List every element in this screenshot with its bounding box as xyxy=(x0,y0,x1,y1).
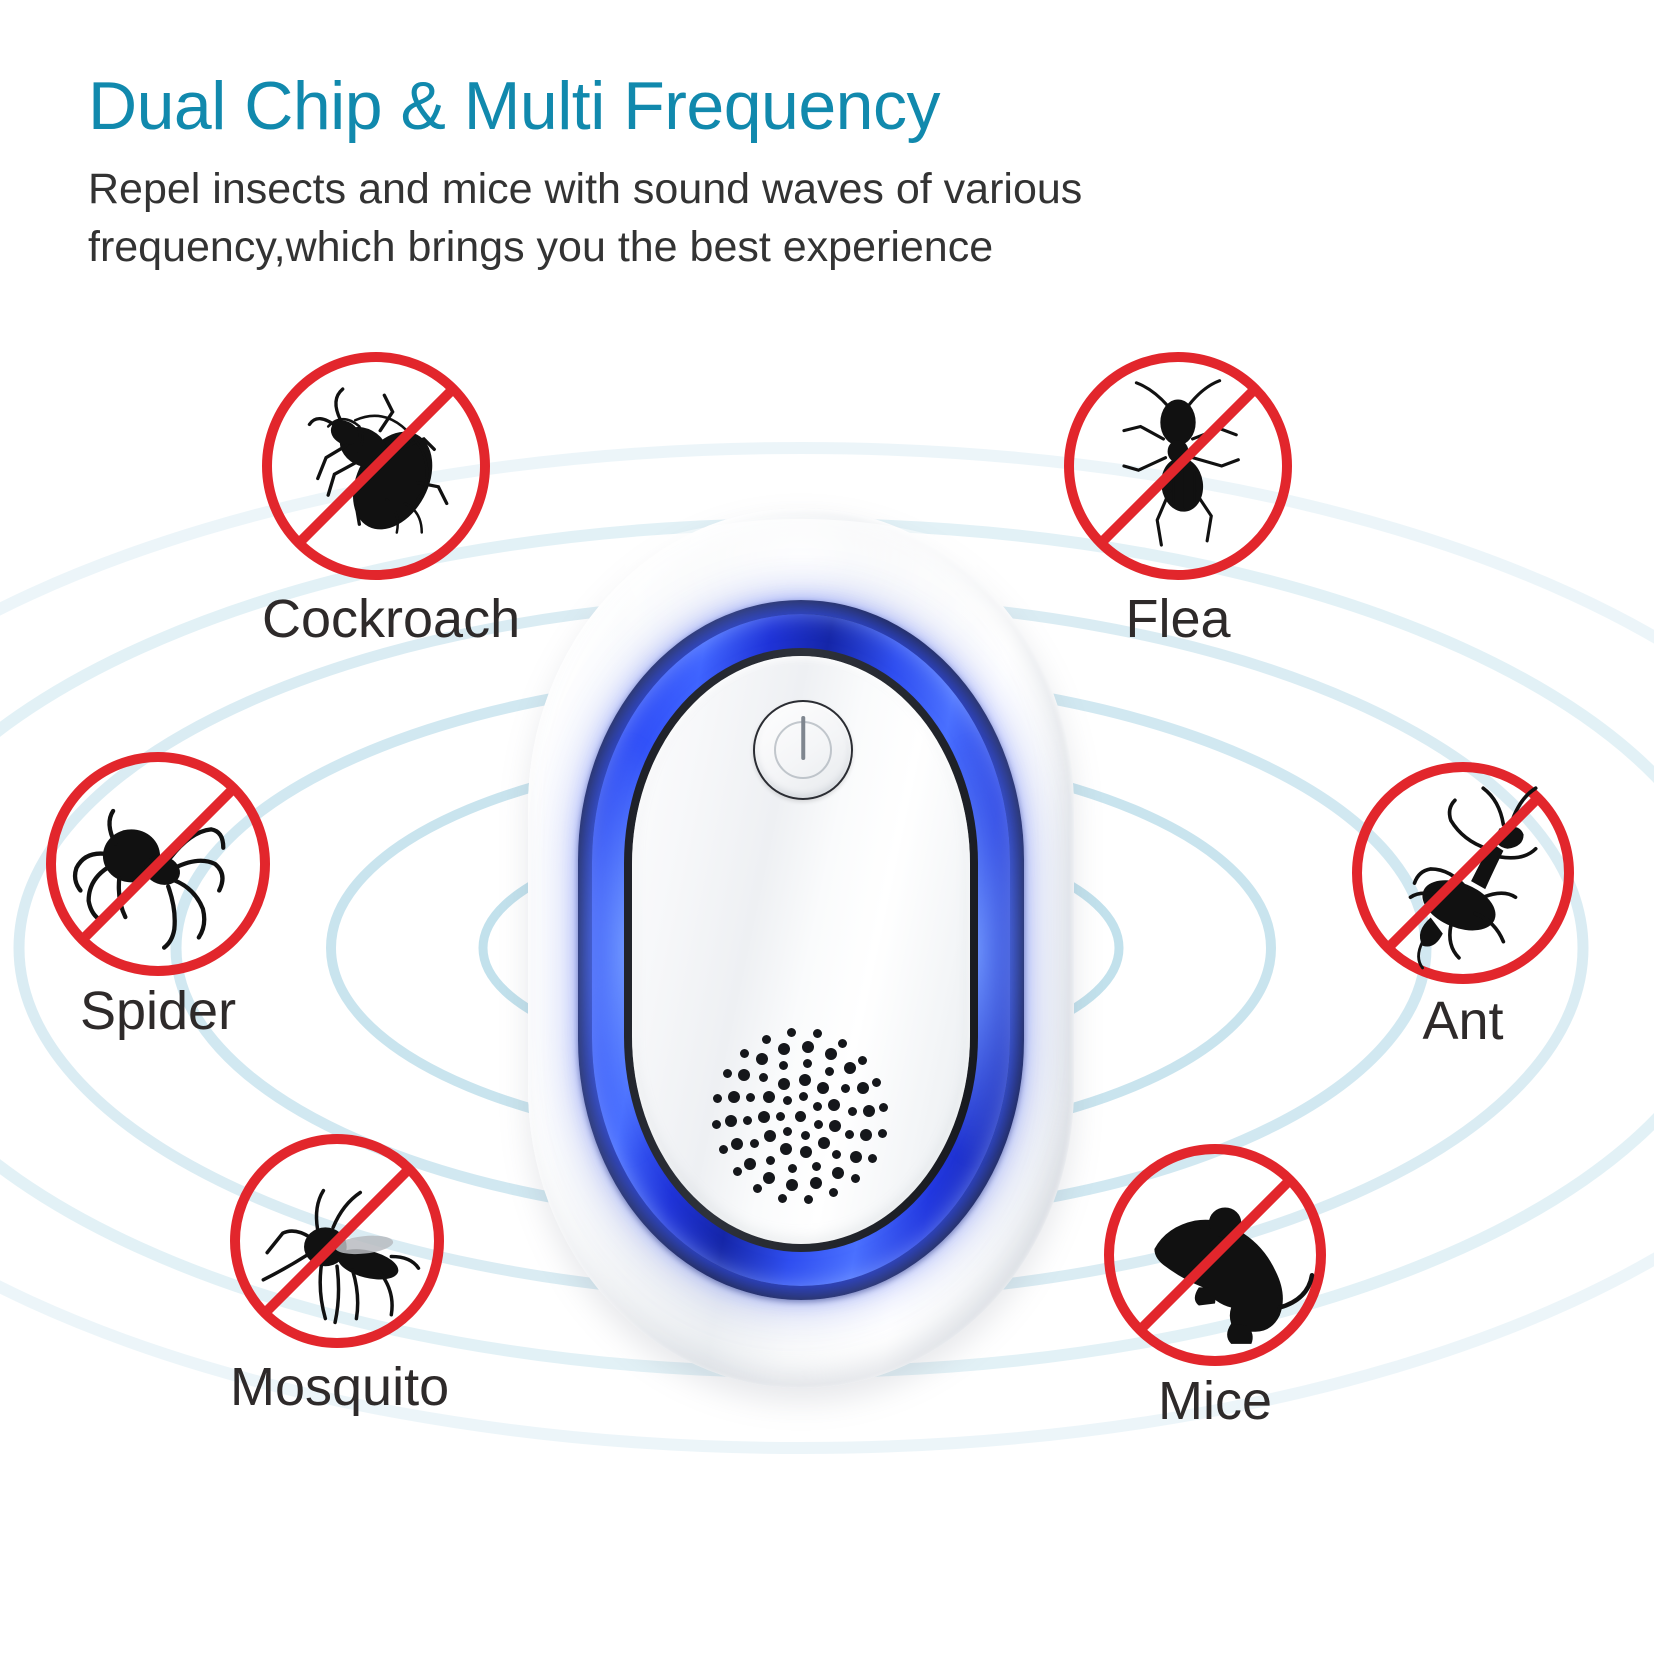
grille-dot xyxy=(778,1194,787,1203)
prohibition-badge xyxy=(1104,1144,1326,1366)
grille-dot xyxy=(788,1164,797,1173)
grille-dot xyxy=(863,1105,875,1117)
grille-dot xyxy=(812,1162,821,1171)
pest-item-ant: Ant xyxy=(1352,762,1574,984)
grille-dot xyxy=(858,1056,867,1065)
device-illustration xyxy=(528,508,1074,1388)
prohibition-badge xyxy=(1064,352,1292,580)
pest-item-spider: Spider xyxy=(46,752,270,976)
grille-dot xyxy=(758,1111,770,1123)
grille-dot xyxy=(817,1082,829,1094)
grille-dot xyxy=(756,1053,768,1065)
grille-dot xyxy=(814,1120,823,1129)
grille-dot xyxy=(779,1061,788,1070)
grille-dot xyxy=(802,1041,814,1053)
grille-dot xyxy=(750,1139,759,1148)
grille-dot xyxy=(804,1195,813,1204)
grille-dot xyxy=(818,1137,830,1149)
grille-dot xyxy=(825,1048,837,1060)
header-block: Dual Chip & Multi Frequency Repel insect… xyxy=(88,72,1288,276)
pest-item-mosquito: Mosquito xyxy=(230,1134,444,1348)
grille-dot xyxy=(800,1146,812,1158)
prohibition-badge xyxy=(46,752,270,976)
grille-dot xyxy=(845,1130,854,1139)
pest-label-cockroach: Cockroach xyxy=(262,588,490,650)
grille-dot xyxy=(778,1043,790,1055)
pest-item-mice: Mice xyxy=(1104,1144,1326,1366)
page-subtitle: Repel insects and mice with sound waves … xyxy=(88,160,1208,276)
pest-item-flea: Flea xyxy=(1064,352,1292,580)
grille-dot xyxy=(738,1069,750,1081)
grille-dot xyxy=(740,1049,749,1058)
grille-dot xyxy=(813,1102,822,1111)
grille-dot xyxy=(829,1120,841,1132)
prohibition-badge xyxy=(230,1134,444,1348)
grille-dot xyxy=(783,1127,792,1136)
grille-dot xyxy=(712,1120,721,1129)
grille-dot xyxy=(744,1158,756,1170)
grille-dot xyxy=(780,1143,792,1155)
pest-item-cockroach: Cockroach xyxy=(262,352,490,580)
grille-dot xyxy=(762,1035,771,1044)
grille-dot xyxy=(763,1172,775,1184)
grille-dot xyxy=(719,1145,728,1154)
grille-dot xyxy=(746,1093,755,1102)
grille-dot xyxy=(753,1184,762,1193)
power-button[interactable] xyxy=(753,700,853,800)
grille-dot xyxy=(813,1029,822,1038)
grille-dot xyxy=(801,1131,810,1140)
grille-dot xyxy=(832,1150,841,1159)
infographic-canvas: Dual Chip & Multi Frequency Repel insect… xyxy=(0,0,1654,1654)
grille-dot xyxy=(851,1174,860,1183)
grille-dot xyxy=(731,1138,743,1150)
grille-dot xyxy=(723,1069,732,1078)
grille-dot xyxy=(766,1156,775,1165)
grille-dot xyxy=(725,1115,737,1127)
prohibition-badge xyxy=(262,352,490,580)
grille-dot xyxy=(733,1167,742,1176)
pest-label-flea: Flea xyxy=(1064,588,1292,650)
pest-label-spider: Spider xyxy=(46,980,270,1042)
grille-dot xyxy=(848,1107,857,1116)
grille-dot xyxy=(799,1092,808,1101)
grille-dot xyxy=(828,1099,840,1111)
grille-dot xyxy=(786,1179,798,1191)
grille-dot xyxy=(787,1028,796,1037)
grille-dot xyxy=(778,1078,790,1090)
grille-dot xyxy=(743,1116,752,1125)
grille-dot xyxy=(844,1062,856,1074)
grille-dot xyxy=(829,1188,838,1197)
grille-dot xyxy=(860,1129,872,1141)
pest-label-ant: Ant xyxy=(1352,990,1574,1052)
grille-dot xyxy=(776,1112,785,1121)
grille-dot xyxy=(728,1091,740,1103)
pest-label-mosquito: Mosquito xyxy=(230,1356,444,1418)
grille-dot xyxy=(841,1084,850,1093)
grille-dot xyxy=(763,1091,775,1103)
speaker-grille xyxy=(710,1026,890,1206)
grille-dot xyxy=(810,1177,822,1189)
prohibition-badge xyxy=(1352,762,1574,984)
power-icon xyxy=(801,716,805,760)
grille-dot xyxy=(799,1074,811,1086)
grille-dot xyxy=(879,1103,888,1112)
grille-dot xyxy=(825,1067,834,1076)
page-title: Dual Chip & Multi Frequency xyxy=(88,72,1288,140)
grille-dot xyxy=(878,1129,887,1138)
grille-dot xyxy=(838,1039,847,1048)
grille-dot xyxy=(857,1082,869,1094)
grille-dot xyxy=(850,1151,862,1163)
grille-dot xyxy=(759,1073,768,1082)
grille-dot xyxy=(764,1130,776,1142)
grille-dot xyxy=(832,1167,844,1179)
grille-dot xyxy=(803,1059,812,1068)
grille-dot xyxy=(868,1154,877,1163)
grille-dot xyxy=(783,1096,792,1105)
pest-label-mice: Mice xyxy=(1104,1370,1326,1432)
grille-dot xyxy=(872,1078,881,1087)
grille-dot xyxy=(713,1094,722,1103)
device-face xyxy=(632,656,970,1244)
grille-dot xyxy=(795,1111,806,1122)
